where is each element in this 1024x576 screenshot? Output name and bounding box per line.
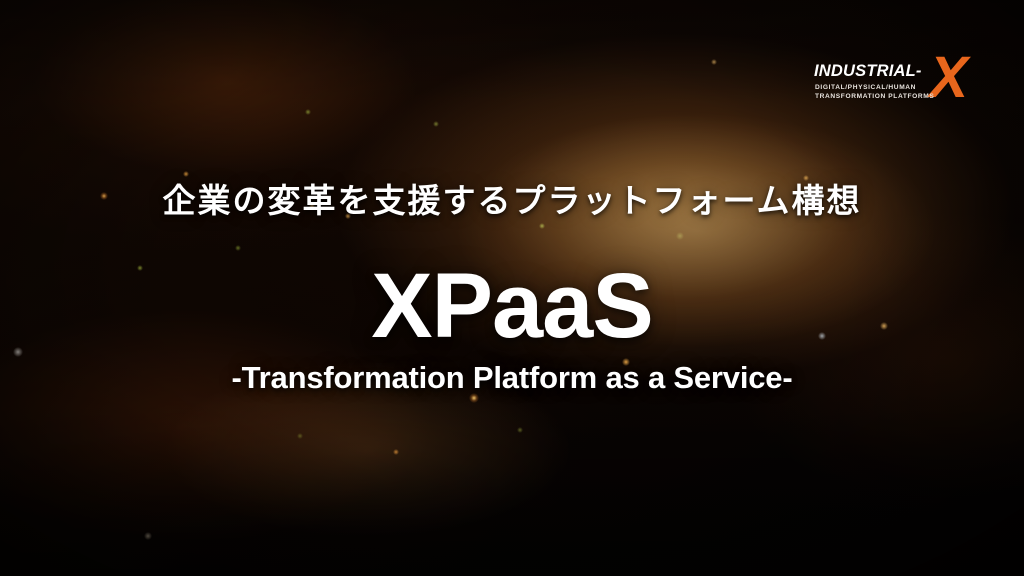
slide-headline: 企業の変革を支援するプラットフォーム構想 — [0, 180, 1024, 222]
page-title: XPaaS — [0, 258, 1024, 354]
industrial-x-logo: X INDUSTRIAL- DIGITAL/PHYSICAL/HUMANTRAN… — [814, 52, 966, 112]
slide-content: X INDUSTRIAL- DIGITAL/PHYSICAL/HUMANTRAN… — [0, 0, 1024, 576]
slide-subtitle: -Transformation Platform as a Service- — [0, 359, 1024, 397]
logo-tagline-line-2: TRANSFORMATION PLATFORMS — [815, 93, 934, 100]
logo-tagline-line-1: DIGITAL/PHYSICAL/HUMAN — [815, 84, 916, 91]
presentation-slide: X INDUSTRIAL- DIGITAL/PHYSICAL/HUMANTRAN… — [0, 0, 1024, 576]
logo-wordmark: INDUSTRIAL- — [814, 62, 922, 81]
logo-tagline: DIGITAL/PHYSICAL/HUMANTRANSFORMATION PLA… — [815, 83, 934, 102]
logo-x-mark-icon: X — [929, 49, 966, 107]
